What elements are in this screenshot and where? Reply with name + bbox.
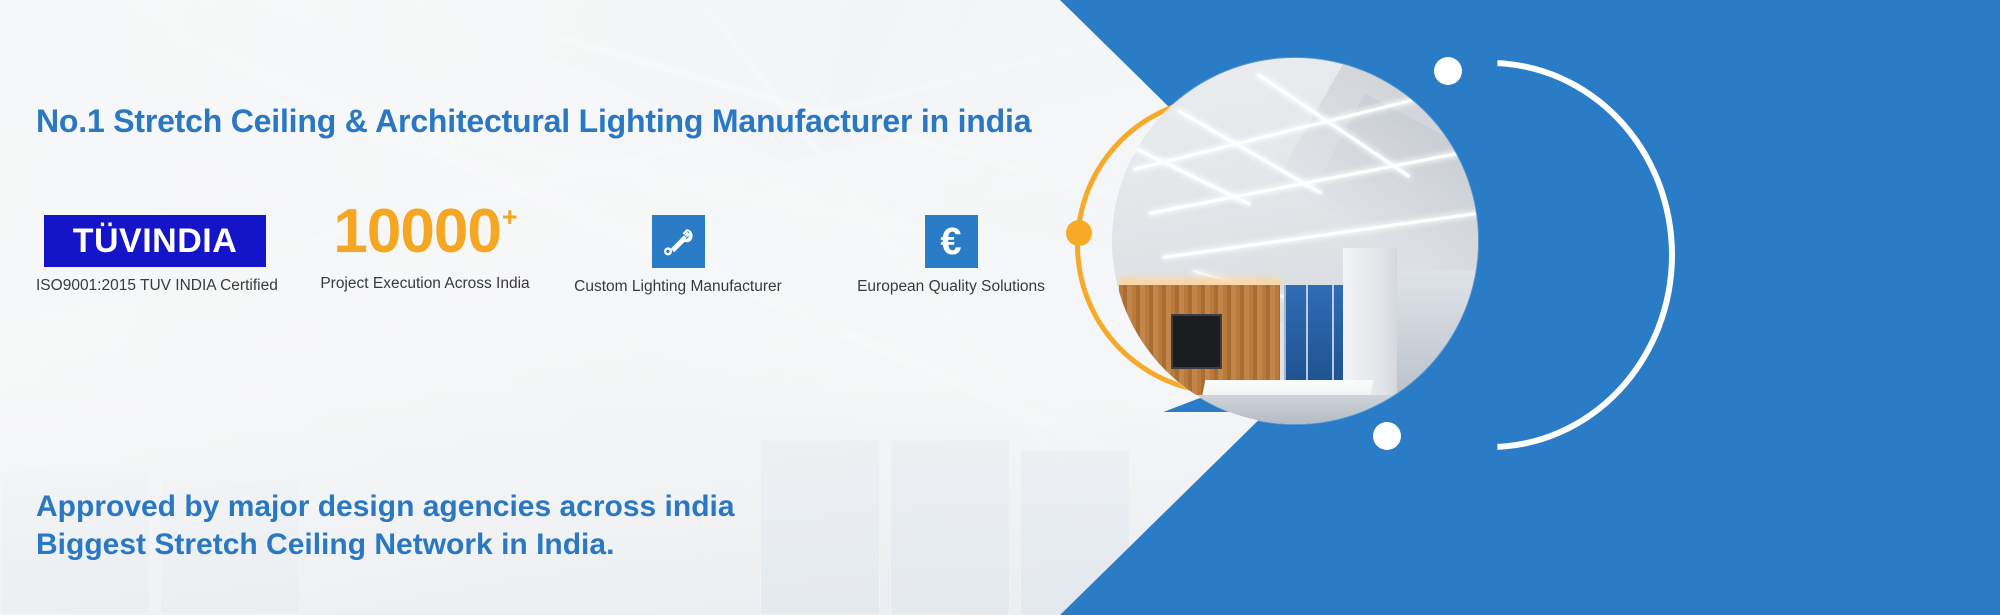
tagline-line-2: Biggest Stretch Ceiling Network in India… [36,526,735,564]
trust-caption-tuv-india: ISO9001:2015 TUV INDIA Certified [36,277,274,295]
white-dot-bottom-icon [1373,422,1401,450]
euro-glyph: € [940,223,961,261]
trust-item-project-count: 10000+ Project Execution Across India [308,201,542,293]
tools-icon [652,215,705,268]
tuv-india-logo-text: TÜVINDIA [73,224,238,258]
orange-dot-icon [1066,220,1092,246]
tagline-block: Approved by major design agencies across… [36,488,735,565]
promo-banner: No.1 Stretch Ceiling & Architectural Lig… [0,0,2000,615]
trust-caption-custom-lighting: Custom Lighting Manufacturer [560,279,796,295]
project-count-suffix: + [502,202,518,232]
euro-icon: € [925,215,978,268]
trust-item-tuv-india: TÜVINDIA ISO9001:2015 TUV INDIA Certifie… [36,215,274,295]
hero-circle-photo [1112,58,1478,424]
trust-item-custom-lighting: Custom Lighting Manufacturer [560,215,796,295]
page-title: No.1 Stretch Ceiling & Architectural Lig… [36,103,1031,140]
tuv-india-logo: TÜVINDIA [44,215,266,267]
project-count-number: 10000 [333,201,500,263]
trust-caption-project-count: Project Execution Across India [308,275,542,293]
trust-badges-strip: TÜVINDIA ISO9001:2015 TUV INDIA Certifie… [36,215,1066,310]
trust-item-european-quality: € European Quality Solutions [836,215,1066,295]
trust-caption-european-quality: European Quality Solutions [836,279,1066,295]
tagline-line-1: Approved by major design agencies across… [36,488,735,526]
